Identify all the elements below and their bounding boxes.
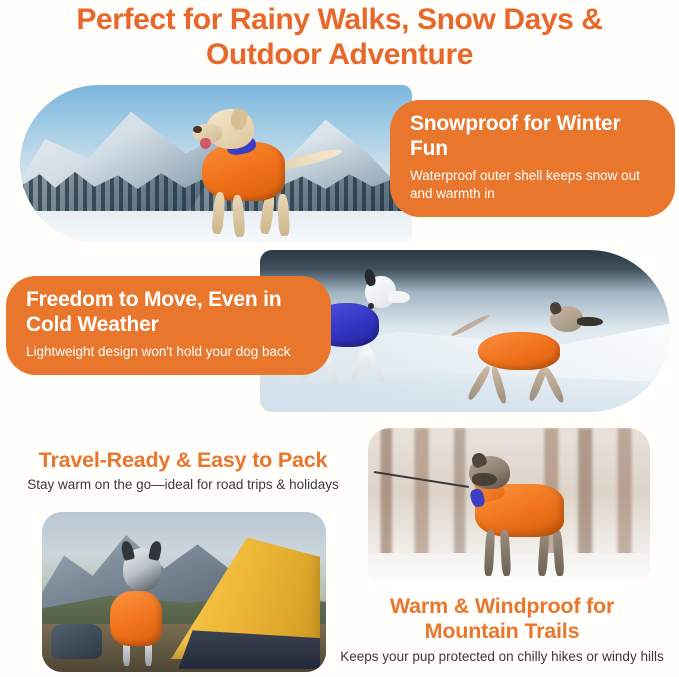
page-title: Perfect for Rainy Walks, Snow Days & Out… (0, 2, 679, 73)
dog-leg (553, 529, 566, 576)
feature-card-freedom-to-move: Freedom to Move, Even in Cold Weather Li… (6, 276, 331, 375)
dog-leg (484, 530, 496, 577)
headline-line-1: Perfect for Rainy Walks, Snow Days & (0, 2, 679, 37)
feature-subtitle: Lightweight design won't hold your dog b… (26, 343, 311, 361)
feature-text-travel-ready: Travel-Ready & Easy to Pack Stay warm on… (4, 448, 362, 495)
dog-snout (388, 291, 410, 303)
dog-nose (193, 126, 202, 133)
dog-leg (211, 192, 225, 234)
border-collie-dog (104, 541, 189, 666)
dalmatian-spot (368, 303, 374, 309)
feature-text-warm-windproof: Warm & Windproof for Mountain Trails Kee… (325, 594, 679, 666)
feature-title: Warm & Windproof for Mountain Trails (325, 594, 679, 645)
feature-title-line-2: Mountain Trails (325, 619, 679, 644)
feature-title: Snowproof for Winter Fun (410, 112, 655, 162)
dog-leg (542, 366, 566, 404)
dog-leg (231, 195, 245, 237)
whippet-dog (449, 302, 613, 409)
feature-subtitle-line-2: and warmth in (410, 186, 495, 201)
dog-ear (119, 540, 134, 561)
feature-title: Travel-Ready & Easy to Pack (4, 448, 362, 473)
product-feature-infographic: Perfect for Rainy Walks, Snow Days & Out… (0, 0, 679, 677)
feature-subtitle: Keeps your pup protected on chilly hikes… (325, 648, 679, 666)
feature-photo-travel-ready (42, 512, 326, 672)
feature-title-line-1: Freedom to Move, Even in (26, 288, 311, 313)
dog-tail (277, 146, 342, 172)
feature-subtitle-line-1: Waterproof outer shell keeps snow out (410, 168, 640, 183)
orange-dog-coat (478, 332, 560, 370)
feature-photo-warm-windproof (368, 428, 650, 588)
orange-dog-coat (110, 591, 163, 646)
feature-title: Freedom to Move, Even in Cold Weather (26, 288, 311, 338)
feature-subtitle: Waterproof outer shell keeps snow out an… (410, 167, 655, 203)
feature-title-line-2: Cold Weather (26, 313, 311, 338)
camping-tent-scene (42, 512, 326, 672)
feature-card-snowproof: Snowproof for Winter Fun Waterproof oute… (390, 100, 675, 217)
dog-leg (363, 343, 386, 384)
dog-leg (489, 366, 507, 405)
feature-photo-snowproof (20, 85, 412, 243)
winter-forest-scene (368, 428, 650, 588)
backpack (51, 624, 102, 659)
dog-tongue (200, 138, 211, 150)
dog-leg (466, 364, 492, 401)
dog-tail (450, 314, 490, 339)
dog-snout (577, 317, 603, 327)
feature-subtitle: Stay warm on the go—ideal for road trips… (4, 476, 362, 494)
snowy-mountain-scene (20, 85, 412, 243)
feature-title-line-1: Warm & Windproof for (325, 594, 679, 619)
labrador-dog (177, 94, 357, 243)
dog-leg (277, 194, 290, 236)
greyhound-dog (447, 450, 605, 578)
dog-ear (149, 540, 164, 561)
headline-line-2: Outdoor Adventure (0, 37, 679, 72)
